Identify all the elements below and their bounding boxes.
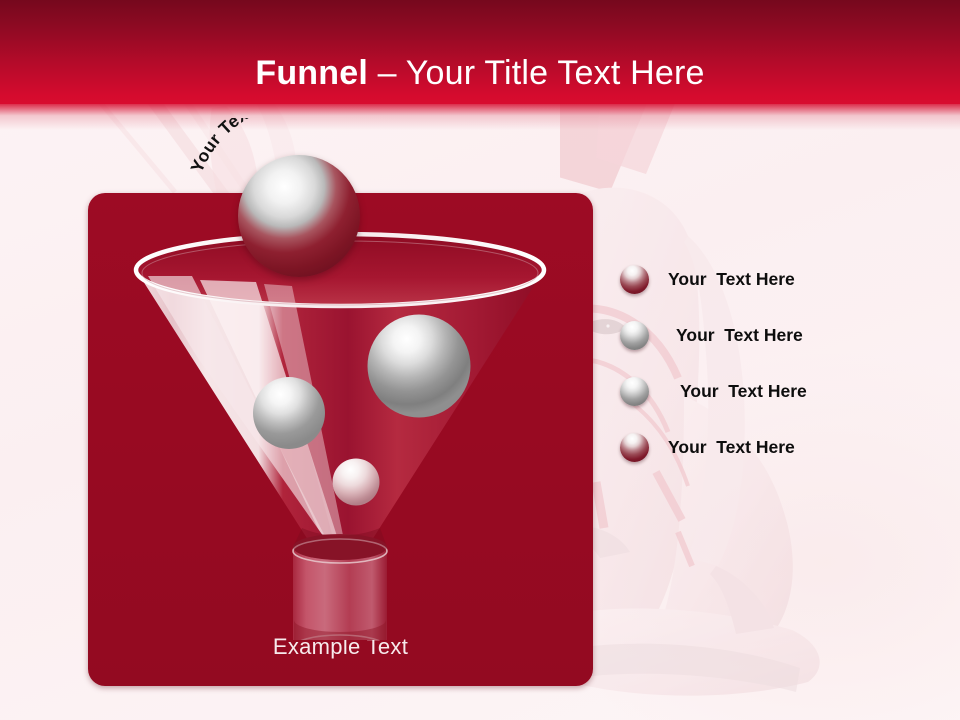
funnel-panel[interactable]: Example Text bbox=[88, 193, 593, 686]
list-item[interactable]: Your Text Here bbox=[612, 424, 952, 480]
list-item[interactable]: Your Text Here bbox=[612, 256, 952, 312]
bullet-label: Your Text Here bbox=[668, 264, 795, 294]
page-title-rest: – Your Title Text Here bbox=[368, 54, 705, 92]
title-bar-fade bbox=[0, 104, 960, 130]
page-title: Funnel – Your Title Text Here bbox=[0, 54, 960, 92]
bullet-label: Your Text Here bbox=[668, 432, 795, 462]
bullet-label: Your Text Here bbox=[676, 320, 803, 350]
list-item[interactable]: Your Text Here bbox=[612, 368, 952, 424]
funnel-arc-label-text: Your Text Here bbox=[190, 118, 300, 175]
bullet-sphere-icon bbox=[620, 265, 649, 294]
page-title-strong: Funnel bbox=[255, 54, 368, 92]
bullet-sphere-icon bbox=[620, 377, 649, 406]
slide-canvas: Funnel – Your Title Text Here Example Te… bbox=[0, 0, 960, 720]
funnel-arc-label: Your Text Here bbox=[190, 118, 410, 188]
bullet-list: Your Text Here Your Text Here Your Text … bbox=[612, 256, 952, 480]
list-item[interactable]: Your Text Here bbox=[612, 312, 952, 368]
bullet-sphere-icon bbox=[620, 321, 649, 350]
bullet-label: Your Text Here bbox=[680, 376, 807, 406]
panel-caption: Example Text bbox=[88, 634, 593, 660]
bullet-sphere-icon bbox=[620, 433, 649, 462]
